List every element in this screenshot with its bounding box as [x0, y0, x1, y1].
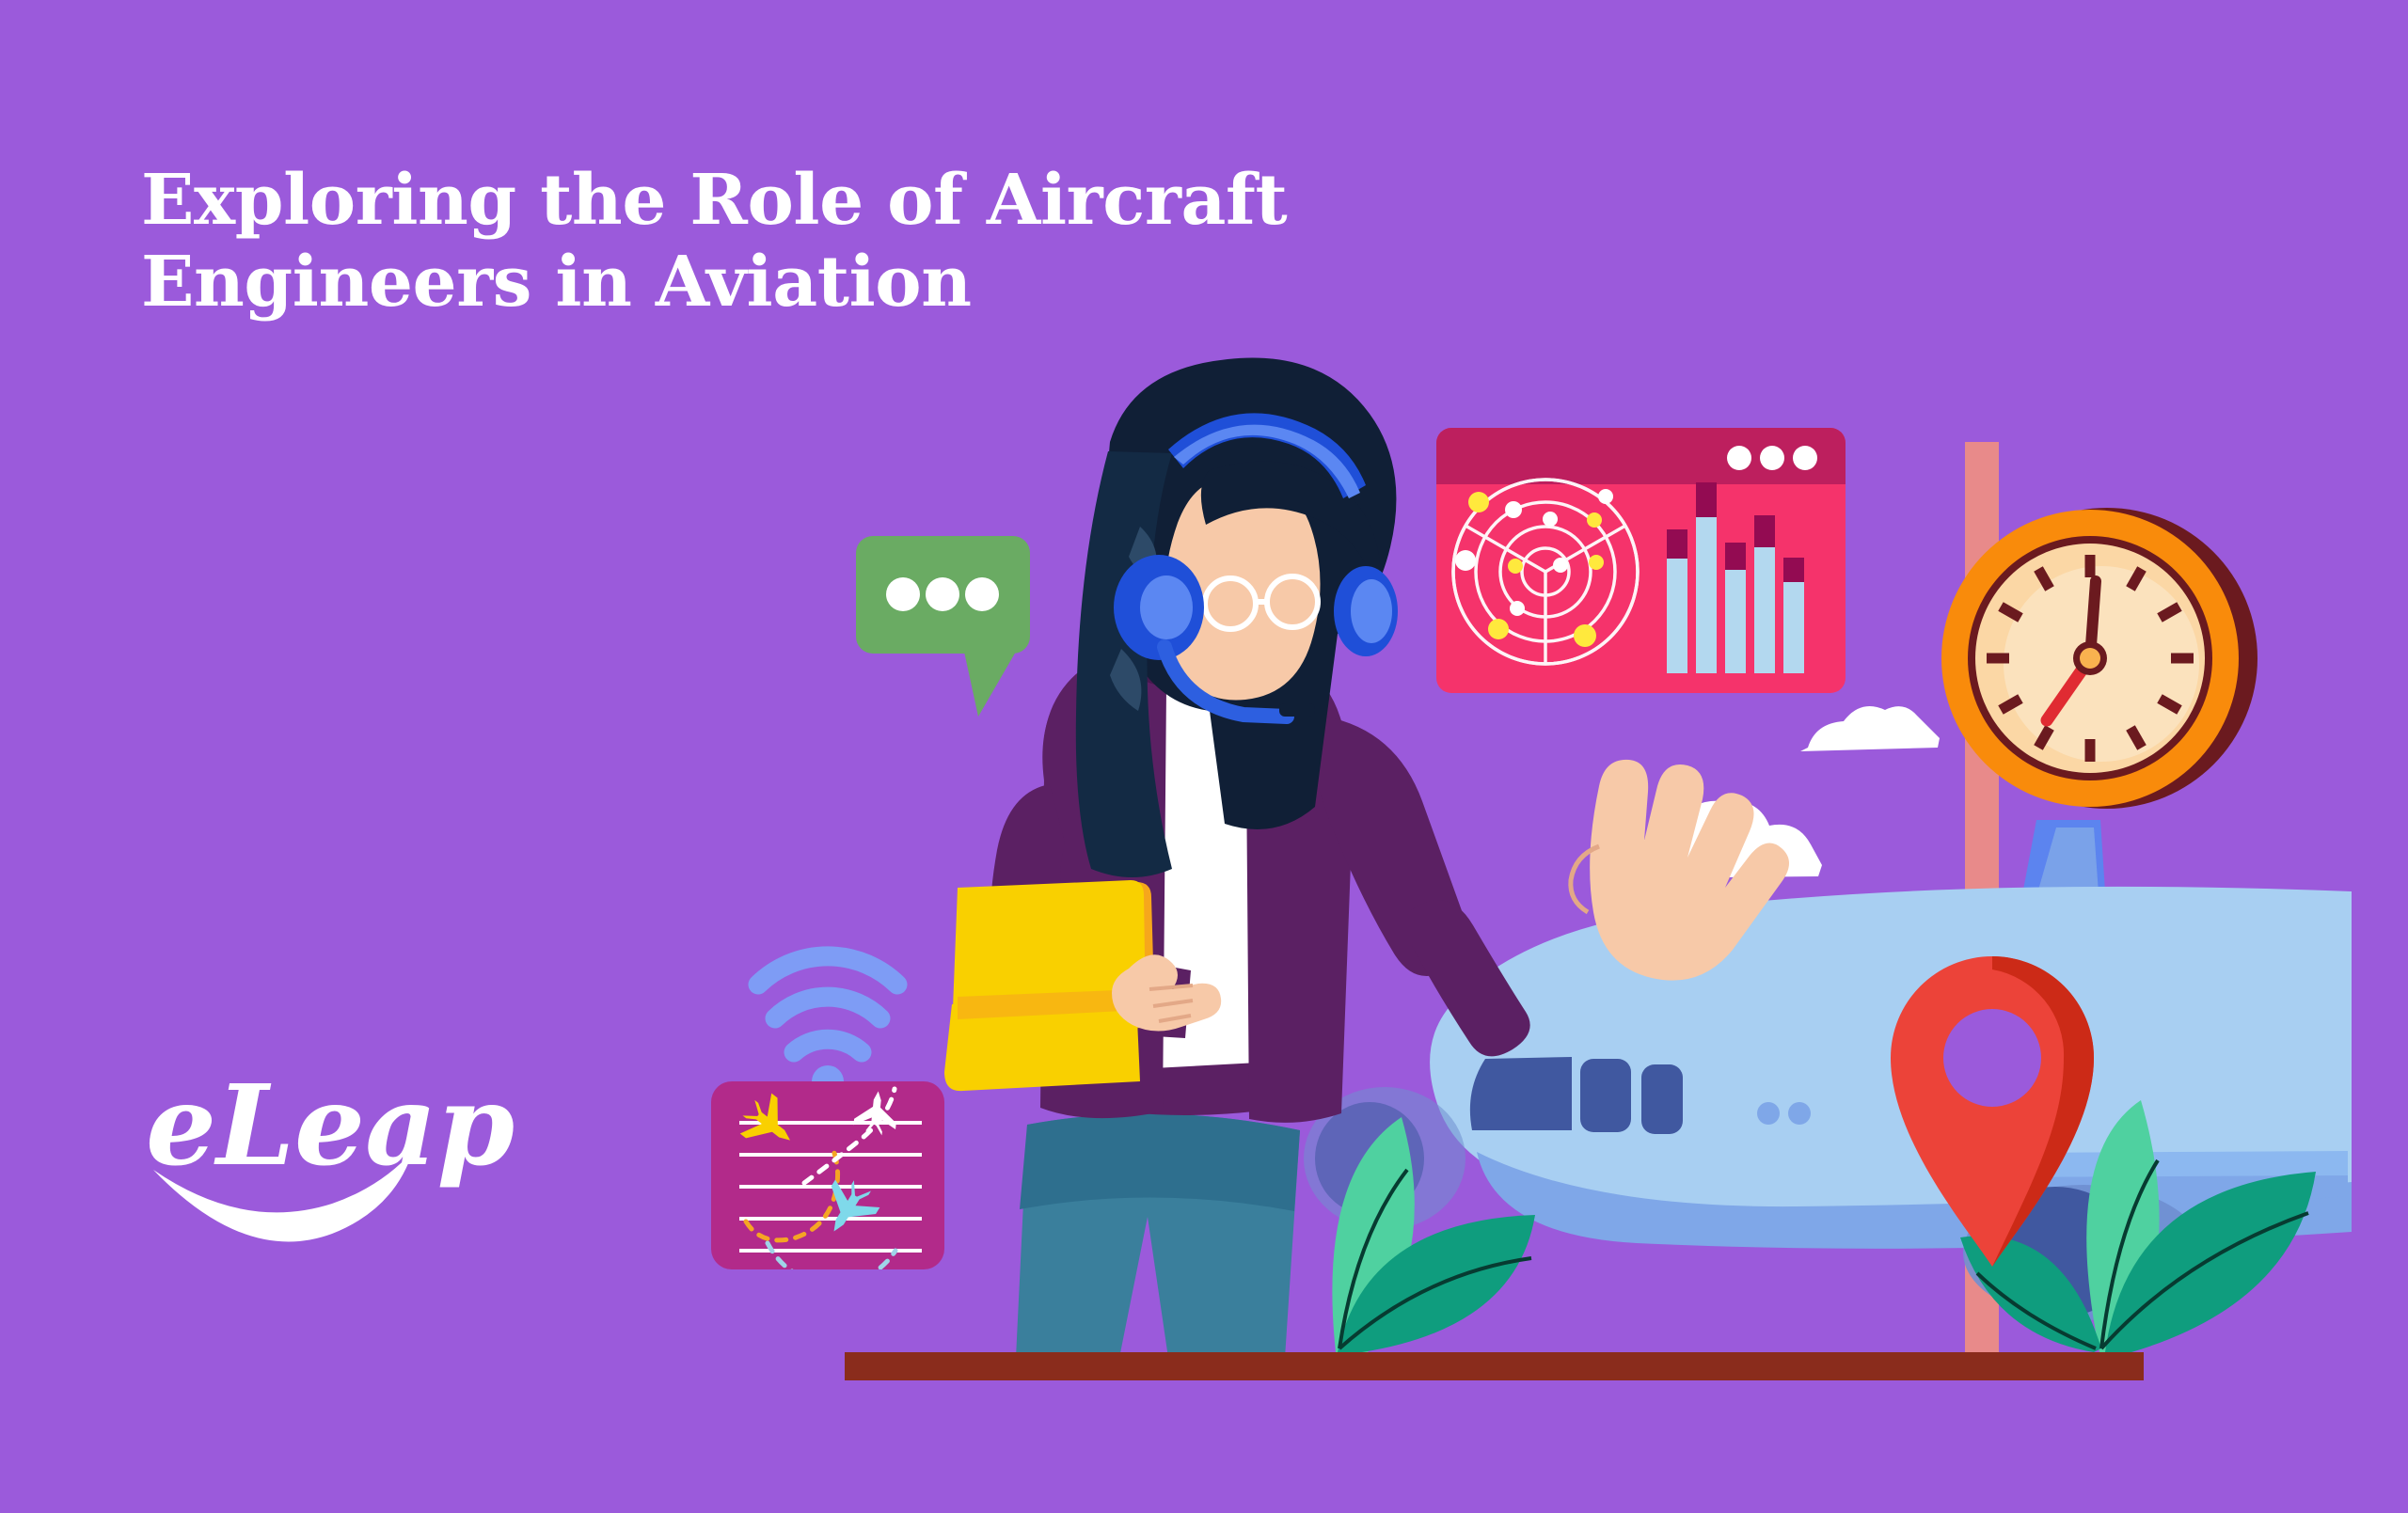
- map-pin-hit[interactable]: [1891, 956, 2094, 1267]
- chat-bubble-hit[interactable]: [856, 536, 1030, 717]
- poster-canvas: Exploring the Role of Aircraft Engineers…: [0, 0, 2408, 1513]
- brand-logo[interactable]: eLeap: [146, 1053, 456, 1222]
- page-title: Exploring the Role of Aircraft Engineers…: [141, 160, 1458, 324]
- flight-route-card-hit[interactable]: [711, 1081, 944, 1269]
- title-block: Exploring the Role of Aircraft Engineers…: [141, 160, 1458, 324]
- dashboard-window-hit[interactable]: [1436, 428, 1846, 693]
- clock-icon: [1941, 508, 2257, 809]
- brand-wordmark: eLeap: [146, 1060, 515, 1190]
- wifi-icon: [758, 956, 897, 1052]
- ground-line: [845, 1352, 2144, 1380]
